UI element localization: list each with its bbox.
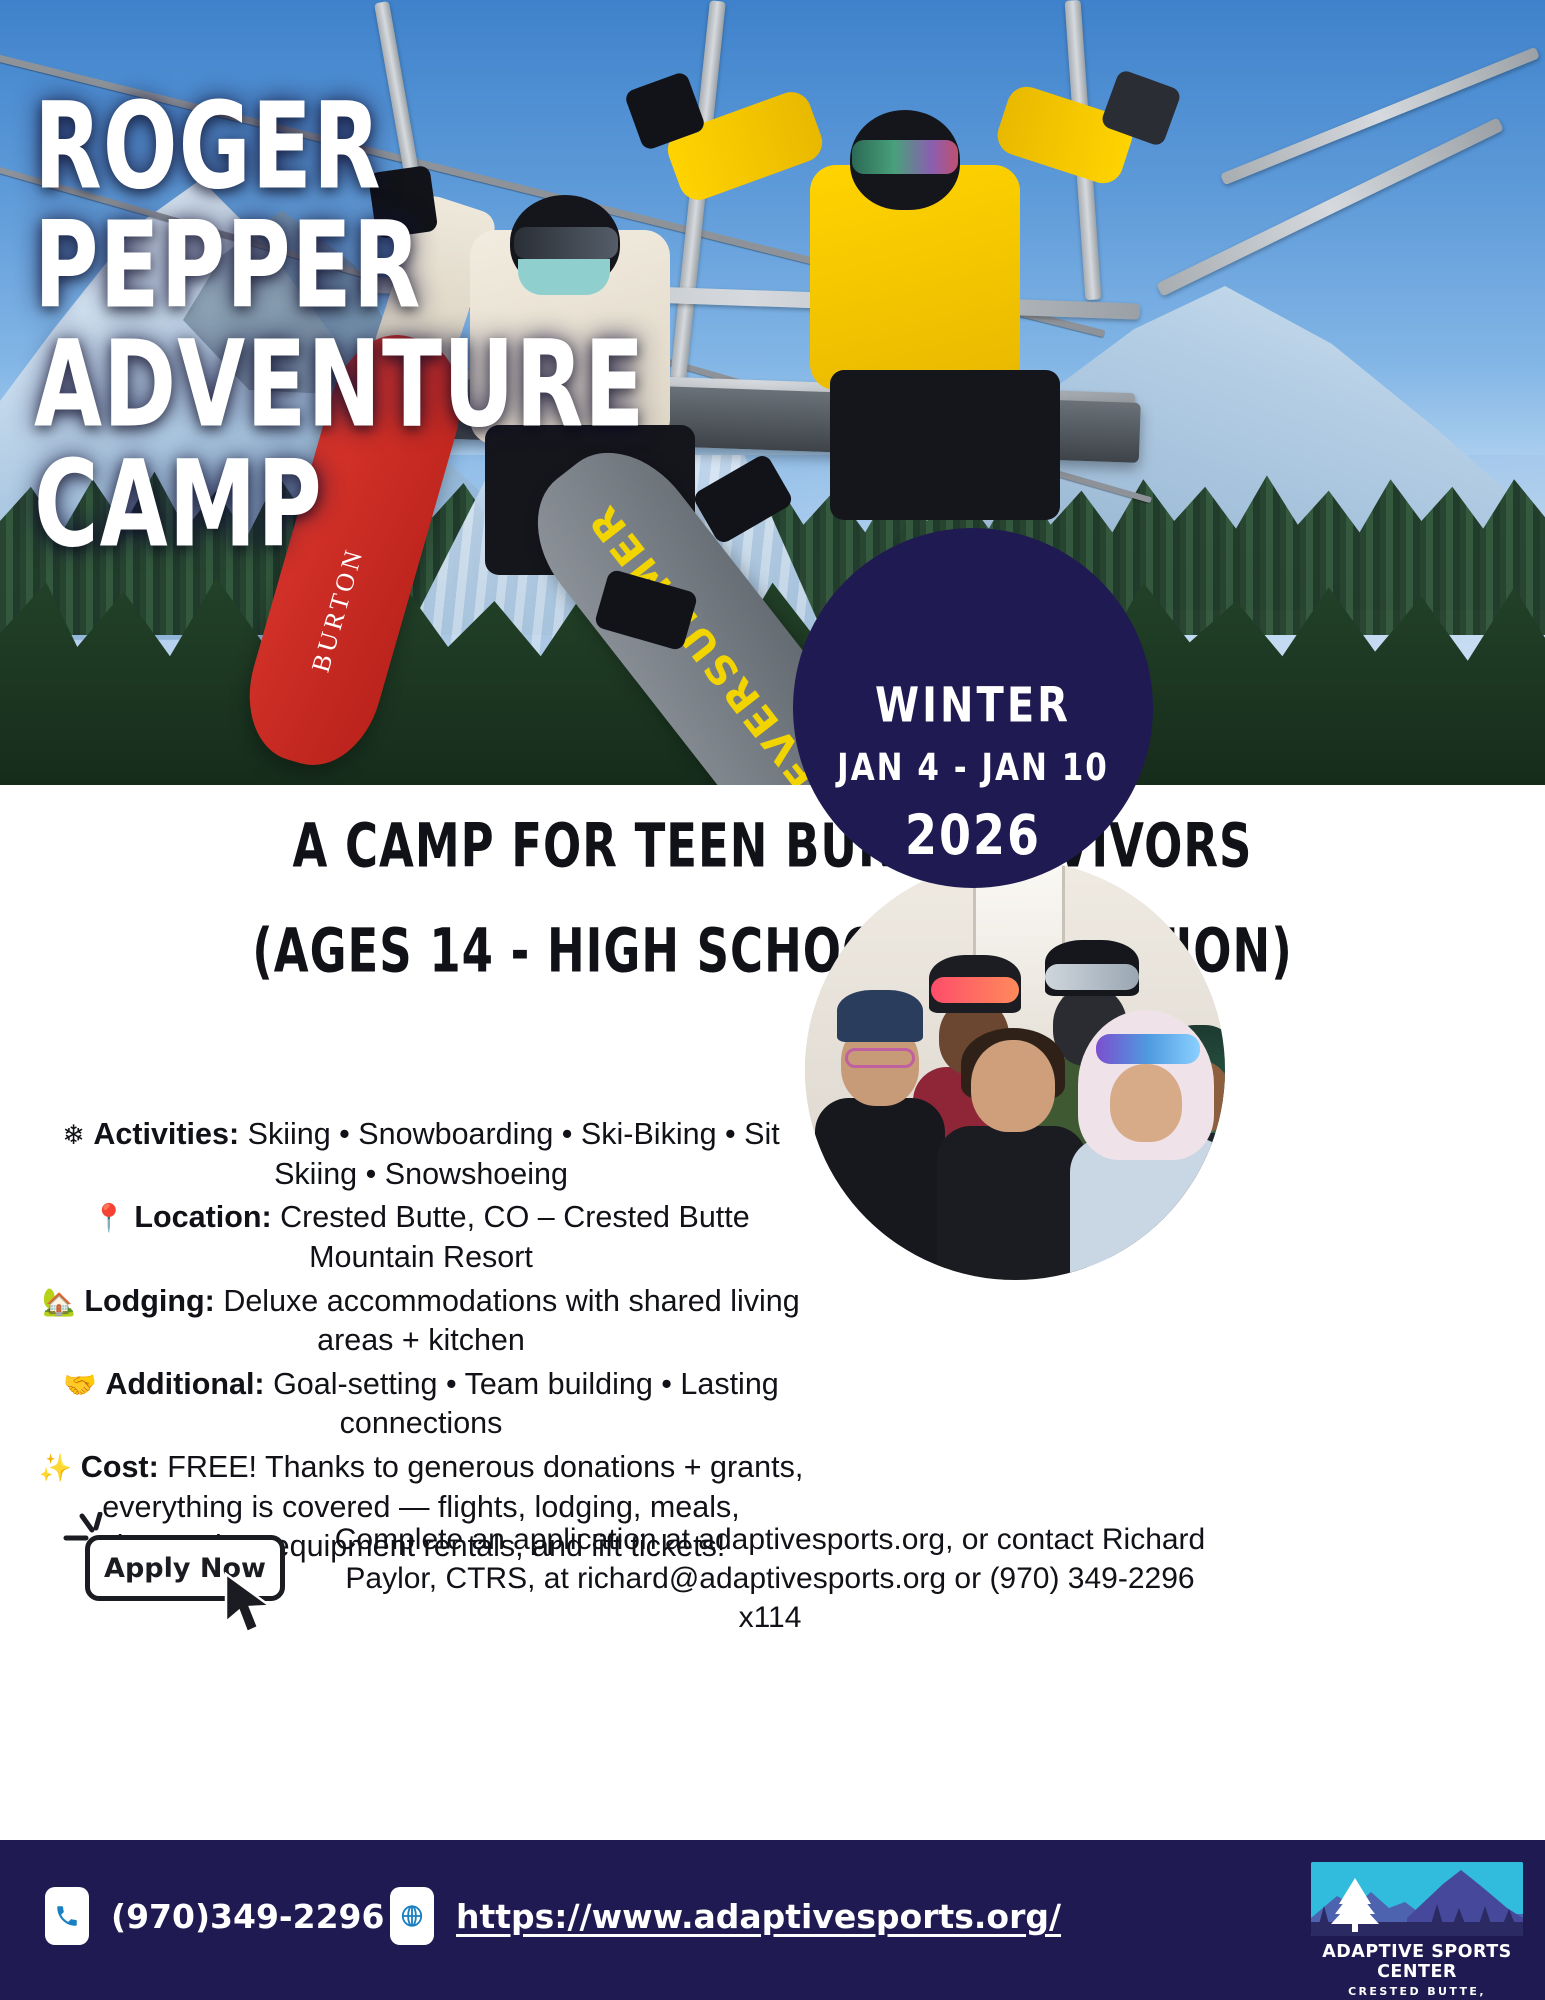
camper-4-jacket xyxy=(937,1126,1087,1280)
mouse-cursor-icon xyxy=(222,1572,278,1636)
detail-label-activities: Activities: xyxy=(93,1117,239,1151)
title-line-1: ROGER xyxy=(34,88,645,205)
contact-text: Complete an application at adaptivesport… xyxy=(330,1520,1210,1637)
rider-right xyxy=(760,90,1160,560)
camper-5-face xyxy=(1110,1064,1182,1142)
detail-label-cost: Cost: xyxy=(81,1450,159,1484)
camper-5-goggles xyxy=(1096,1034,1200,1064)
flyer-title: ROGER PEPPER ADVENTURE CAMP xyxy=(34,88,645,565)
subtitle-block: A CAMP FOR TEEN BURN SURVIVORS (AGES 14 … xyxy=(0,819,1545,977)
logo-name: ADAPTIVE SPORTS CENTER xyxy=(1311,1942,1523,1982)
group-photo xyxy=(805,860,1225,1280)
house-icon: 🏡 xyxy=(42,1287,76,1318)
camper-1-glasses xyxy=(845,1048,915,1068)
camper-1 xyxy=(815,990,945,1280)
camper-1-beanie xyxy=(837,990,923,1042)
handshake-icon: 🤝 xyxy=(63,1370,97,1401)
phone-icon xyxy=(45,1887,89,1945)
detail-row-lodging: 🏡 Lodging: Deluxe accommodations with sh… xyxy=(26,1282,816,1361)
subtitle-line-1: A CAMP FOR TEEN BURN SURVIVORS xyxy=(0,810,1545,882)
camper-5 xyxy=(1070,1010,1225,1280)
camper-3-goggles xyxy=(1045,964,1139,990)
subtitle-line-2: (AGES 14 - HIGH SCHOOL GRADUATION) xyxy=(0,915,1545,987)
detail-label-additional: Additional: xyxy=(105,1367,264,1401)
details-list: ❄ Activities: Skiing • Snowboarding • Sk… xyxy=(26,1115,816,1571)
globe-icon xyxy=(390,1887,434,1945)
detail-row-activities: ❄ Activities: Skiing • Snowboarding • Sk… xyxy=(26,1115,816,1194)
detail-value-lodging: Deluxe accommodations with shared living… xyxy=(223,1284,799,1358)
detail-row-additional: 🤝 Additional: Goal-setting • Team buildi… xyxy=(26,1365,816,1444)
sparkles-icon: ✨ xyxy=(39,1453,73,1484)
footer-phone-number: (970)349-2296 xyxy=(111,1897,384,1936)
detail-label-lodging: Lodging: xyxy=(84,1284,214,1318)
date-badge-year: 2026 xyxy=(905,802,1041,867)
camper-4-face xyxy=(971,1040,1055,1132)
footer-website-url: https://www.adaptivesports.org/ xyxy=(456,1897,1061,1936)
logo-artwork xyxy=(1311,1862,1523,1936)
flyer-page: BURTON NEVERSUMMER ROGER PEPPER ADVENTUR… xyxy=(0,0,1545,2000)
detail-value-activities: Skiing • Snowboarding • Ski-Biking • Sit… xyxy=(248,1117,780,1191)
title-line-2: PEPPER xyxy=(34,207,645,324)
detail-row-location: 📍 Location: Crested Butte, CO – Crested … xyxy=(26,1198,816,1277)
map-pin-icon: 📍 xyxy=(92,1203,126,1234)
footer-phone[interactable]: (970)349-2296 xyxy=(45,1887,384,1945)
snowflake-icon: ❄ xyxy=(62,1120,85,1151)
title-line-3: ADVENTURE xyxy=(34,326,645,443)
detail-label-location: Location: xyxy=(134,1200,271,1234)
camper-1-jacket xyxy=(815,1098,945,1280)
detail-value-additional: Goal-setting • Team building • Lasting c… xyxy=(273,1367,779,1441)
date-badge-season: WINTER xyxy=(875,678,1071,733)
logo-mountain-icon xyxy=(1311,1862,1523,1936)
detail-value-location: Crested Butte, CO – Crested Butte Mounta… xyxy=(280,1200,750,1274)
organization-logo: ADAPTIVE SPORTS CENTER CRESTED BUTTE, CO… xyxy=(1311,1862,1523,1980)
logo-subtitle: CRESTED BUTTE, COLORADO xyxy=(1311,1985,1523,2000)
footer-bar: (970)349-2296 https://www.adaptivesports… xyxy=(0,1840,1545,2000)
date-badge-range: JAN 4 - JAN 10 xyxy=(837,746,1109,789)
title-line-4: CAMP xyxy=(34,446,645,563)
click-spark-icon xyxy=(60,1512,108,1556)
camper-4 xyxy=(937,1040,1087,1280)
date-badge: WINTER JAN 4 - JAN 10 2026 xyxy=(793,528,1153,888)
footer-website[interactable]: https://www.adaptivesports.org/ xyxy=(390,1887,1061,1945)
rider-right-goggles xyxy=(852,140,958,174)
rider-right-pants xyxy=(830,370,1060,520)
